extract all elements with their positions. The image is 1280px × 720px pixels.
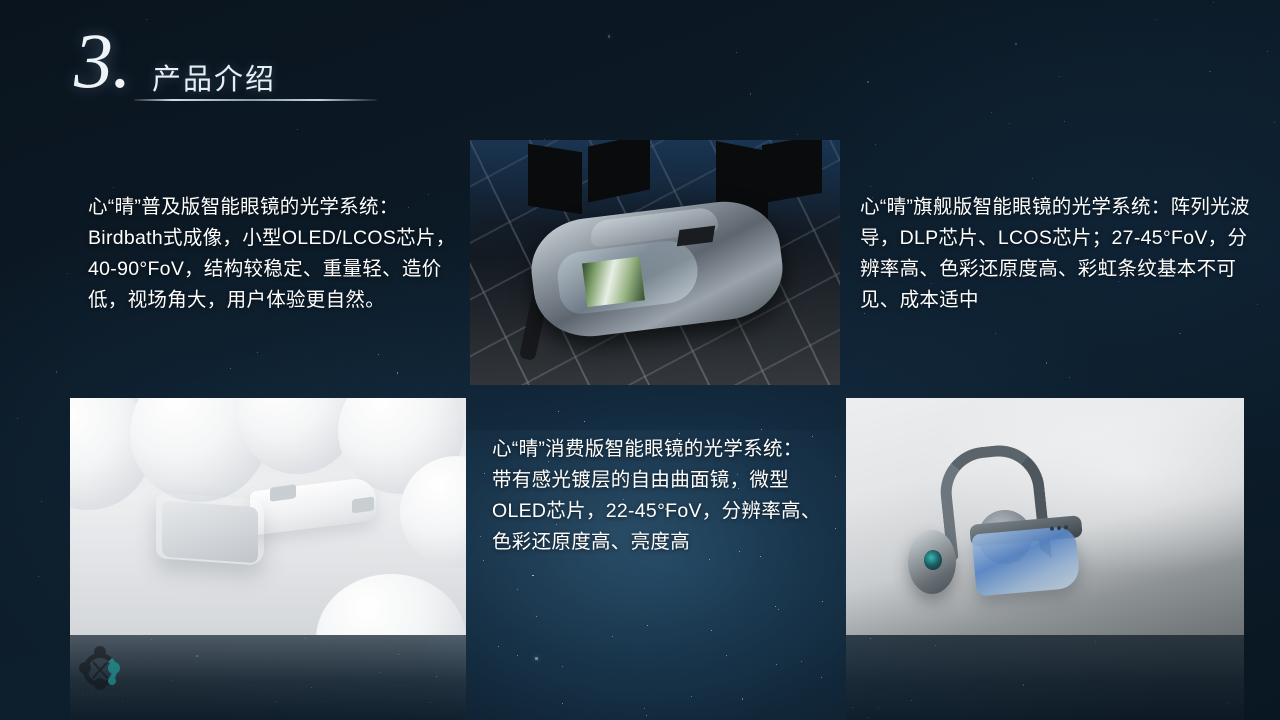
slide-canvas: 3. 产品介绍 XIN QING	[0, 0, 1280, 720]
grid-black-panel	[762, 140, 822, 203]
ar-lens-projected-image	[582, 256, 645, 307]
consumer-edition-description: 心“晴”消费版智能眼镜的光学系统：带有感光镀层的自由曲面镜，微型OLED芯片，2…	[492, 434, 822, 558]
xin-qing-logo-label: XIN QING	[80, 692, 120, 698]
vr-headset-faceplate	[162, 501, 258, 564]
page-title: 产品介绍	[152, 56, 276, 98]
title-underline-rule	[134, 99, 377, 101]
white-vr-headset-photo: XIN QING	[70, 398, 466, 635]
bottom-left-photo-reflection	[70, 635, 466, 720]
slide-header: 3. 产品介绍	[0, 0, 1280, 130]
white-sphere	[316, 574, 466, 635]
popular-edition-description: 心“晴”普及版智能眼镜的光学系统：Birdbath式成像，小型OLED/LCOS…	[88, 192, 470, 316]
section-number: 3.	[74, 22, 131, 100]
xin-qing-logo-x-glyph	[89, 659, 111, 681]
xin-qing-logo-reflection: XIN QING	[80, 650, 120, 698]
bottom-right-photo-reflection	[846, 635, 1244, 720]
headphone-visor-headset-photo: XIN QING	[846, 398, 1244, 635]
headset-blue-visor	[971, 526, 1080, 597]
flagship-edition-description: 心“晴”旗舰版智能眼镜的光学系统：阵列光波导，DLP芯片、LCOS芯片；27-4…	[860, 192, 1250, 316]
xin-qing-logo-mark	[80, 650, 120, 690]
grid-black-panel	[528, 144, 582, 215]
ar-glasses-on-grid-photo: XIN QING	[470, 140, 840, 385]
ar-glasses-product	[532, 210, 782, 328]
headset-earcup-center	[924, 550, 942, 570]
